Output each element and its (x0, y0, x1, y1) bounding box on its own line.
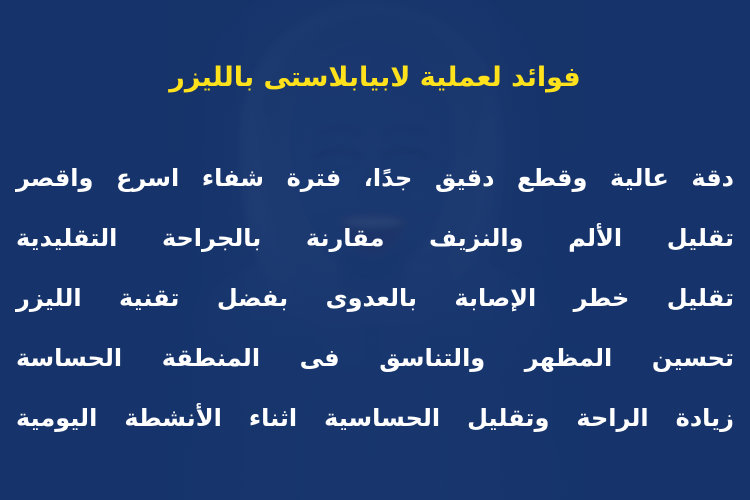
benefit-item: دقة عالية وقطع دقيق جدًا، فترة شفاء اسرع… (16, 148, 734, 208)
benefit-item: تحسين المظهر والتناسق فى المنطقة الحساسة (16, 328, 734, 388)
benefit-text: دقة عالية وقطع دقيق جدًا، فترة شفاء اسرع… (16, 166, 734, 190)
benefit-text: تقليل خطر الإصابة بالعدوى بفضل تقنية الل… (16, 286, 734, 310)
benefit-text: تقليل الألم والنزيف مقارنة بالجراحة التق… (16, 226, 734, 250)
benefit-text: تحسين المظهر والتناسق فى المنطقة الحساسة (16, 346, 734, 370)
benefit-item: تقليل خطر الإصابة بالعدوى بفضل تقنية الل… (16, 268, 734, 328)
poster-headline: فوائد لعملية لابيابلاستى بالليزر (24, 62, 726, 94)
benefit-text: زيادة الراحة وتقليل الحساسية اثناء الأنش… (16, 406, 734, 430)
benefit-item: تقليل الألم والنزيف مقارنة بالجراحة التق… (16, 208, 734, 268)
poster-canvas: فوائد لعملية لابيابلاستى بالليزر دقة عال… (0, 0, 750, 500)
poster-content: فوائد لعملية لابيابلاستى بالليزر دقة عال… (0, 0, 750, 500)
benefit-item: زيادة الراحة وتقليل الحساسية اثناء الأنش… (16, 388, 734, 448)
benefits-list: دقة عالية وقطع دقيق جدًا، فترة شفاء اسرع… (16, 148, 734, 448)
